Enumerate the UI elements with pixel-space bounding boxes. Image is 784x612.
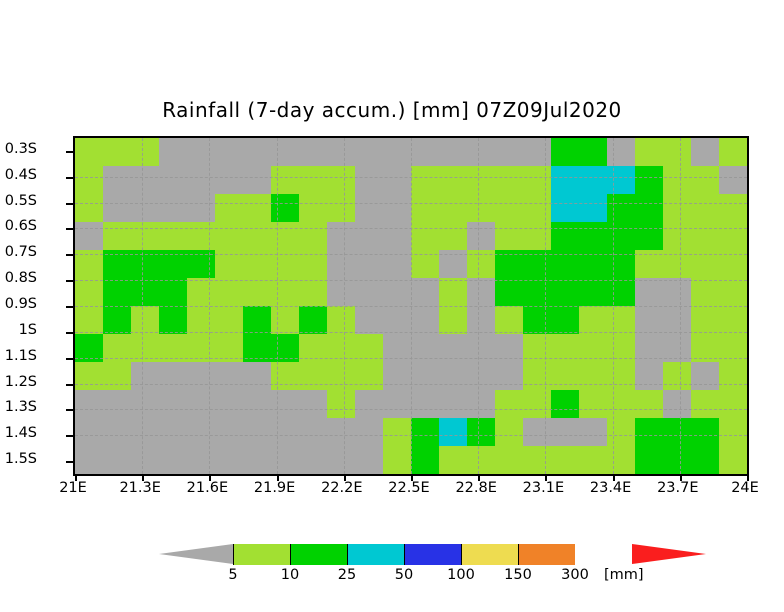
heatmap-cell — [131, 222, 159, 250]
heatmap-cell — [299, 418, 327, 446]
heatmap-cell — [103, 334, 131, 362]
heatmap-cell — [299, 446, 327, 474]
heatmap-cell — [607, 194, 635, 222]
heatmap-cell — [579, 250, 607, 278]
heatmap-cell — [299, 390, 327, 418]
heatmap-cell — [243, 138, 271, 166]
y-axis-tick — [66, 384, 73, 386]
heatmap-cell — [719, 334, 747, 362]
heatmap-cell — [383, 334, 411, 362]
heatmap-cell — [467, 390, 495, 418]
heatmap-cell — [691, 334, 719, 362]
heatmap-cell — [691, 446, 719, 474]
heatmap-cell — [663, 194, 691, 222]
heatmap-cell — [159, 278, 187, 306]
heatmap-cell — [383, 194, 411, 222]
colorbar-low-arrow — [159, 544, 233, 564]
heatmap-cell — [327, 278, 355, 306]
heatmap-cell — [159, 222, 187, 250]
heatmap-cell — [187, 362, 215, 390]
heatmap-cell — [383, 138, 411, 166]
heatmap-cell — [299, 222, 327, 250]
colorbar-segment — [290, 544, 347, 565]
heatmap-cell — [635, 390, 663, 418]
heatmap-cell — [355, 138, 383, 166]
heatmap-cell — [131, 334, 159, 362]
heatmap-cell — [215, 138, 243, 166]
heatmap-cell — [495, 194, 523, 222]
y-axis-tick-label: 0.8S — [5, 270, 37, 286]
y-axis-tick — [66, 409, 73, 411]
heatmap-cell — [383, 278, 411, 306]
heatmap-cell — [75, 418, 103, 446]
heatmap-cell — [523, 194, 551, 222]
heatmap-cell — [523, 306, 551, 334]
heatmap-cell — [159, 418, 187, 446]
heatmap-cell — [495, 166, 523, 194]
y-axis-tick-label: 1.2S — [5, 374, 37, 390]
heatmap-cell — [103, 446, 131, 474]
heatmap-cell — [691, 166, 719, 194]
heatmap-cell — [187, 222, 215, 250]
heatmap-cell — [439, 418, 467, 446]
heatmap-cell — [271, 334, 299, 362]
heatmap-cell — [243, 418, 271, 446]
colorbar-tick-label: 5 — [228, 567, 237, 583]
heatmap-cell — [299, 362, 327, 390]
heatmap-cell — [495, 334, 523, 362]
heatmap-cell — [467, 362, 495, 390]
heatmap-cell — [159, 390, 187, 418]
colorbar-tick-label: 150 — [504, 567, 532, 583]
colorbar-segment — [461, 544, 518, 565]
heatmap-cell — [579, 166, 607, 194]
colorbar-segment — [404, 544, 461, 565]
heatmap-cell — [187, 390, 215, 418]
colorbar-segment — [233, 544, 290, 565]
heatmap-cell — [551, 390, 579, 418]
heatmap-cell — [607, 390, 635, 418]
heatmap-cell — [215, 390, 243, 418]
heatmap-cell — [551, 278, 579, 306]
heatmap-cell — [495, 278, 523, 306]
heatmap-cell — [243, 250, 271, 278]
heatmap-cell — [271, 194, 299, 222]
x-axis-tick-label: 21E — [59, 480, 87, 496]
heatmap-cell — [243, 222, 271, 250]
heatmap-cell — [411, 446, 439, 474]
heatmap-cell — [299, 306, 327, 334]
heatmap-cell — [495, 390, 523, 418]
heatmap-cell — [383, 446, 411, 474]
y-axis-tick — [66, 435, 73, 437]
heatmap-cell — [271, 362, 299, 390]
colorbar-tick-label: 25 — [338, 567, 356, 583]
chart-title: Rainfall (7-day accum.) [mm] 07Z09Jul202… — [0, 98, 784, 122]
heatmap-cell — [663, 278, 691, 306]
heatmap-cell — [439, 334, 467, 362]
heatmap-cell — [215, 278, 243, 306]
heatmap-cell — [439, 138, 467, 166]
y-axis-tick-label: 1.1S — [5, 348, 37, 364]
heatmap-cell — [551, 194, 579, 222]
heatmap-cell — [523, 166, 551, 194]
heatmap-cell — [579, 418, 607, 446]
heatmap-cell — [607, 138, 635, 166]
heatmap-cell — [607, 334, 635, 362]
heatmap-cell — [495, 222, 523, 250]
heatmap-cell — [579, 306, 607, 334]
heatmap-cell — [383, 362, 411, 390]
heatmap-cell — [691, 138, 719, 166]
heatmap-cell — [607, 166, 635, 194]
x-axis-tick-label: 23.1E — [523, 480, 564, 496]
heatmap-cell — [579, 194, 607, 222]
x-axis-tick-label: 23.7E — [657, 480, 698, 496]
heatmap-cell — [635, 278, 663, 306]
heatmap-cell — [551, 446, 579, 474]
heatmap-cell — [439, 250, 467, 278]
heatmap-cell — [439, 446, 467, 474]
heatmap-cell — [551, 250, 579, 278]
heatmap-cell — [635, 222, 663, 250]
heatmap-cell — [411, 222, 439, 250]
y-axis-tick — [66, 306, 73, 308]
heatmap-cell — [271, 222, 299, 250]
y-axis-tick-label: 0.6S — [5, 218, 37, 234]
colorbar-segments — [233, 544, 575, 565]
colorbar-tick-label: 50 — [395, 567, 413, 583]
heatmap-cell — [327, 334, 355, 362]
x-axis-tick-label: 22.8E — [455, 480, 496, 496]
heatmap-cell — [719, 418, 747, 446]
y-axis-tick-label: 0.7S — [5, 244, 37, 260]
heatmap-cell — [299, 194, 327, 222]
heatmap-cell — [103, 138, 131, 166]
heatmap-cell — [327, 222, 355, 250]
heatmap-cell — [495, 362, 523, 390]
heatmap-cell — [187, 250, 215, 278]
heatmap-cell — [271, 278, 299, 306]
heatmap-cell — [719, 138, 747, 166]
heatmap-cell — [551, 306, 579, 334]
heatmap-cell — [719, 278, 747, 306]
heatmap-cell — [579, 138, 607, 166]
y-axis-tick — [66, 358, 73, 360]
heatmap-cell — [327, 194, 355, 222]
heatmap-cell — [439, 390, 467, 418]
heatmap-cell — [467, 166, 495, 194]
heatmap-cell — [607, 362, 635, 390]
heatmap-cell — [299, 250, 327, 278]
heatmap-cell — [411, 194, 439, 222]
heatmap-cell — [75, 222, 103, 250]
y-axis-tick — [66, 280, 73, 282]
heatmap-cell — [523, 362, 551, 390]
heatmap-cell — [215, 418, 243, 446]
heatmap-cell — [579, 334, 607, 362]
heatmap-cell — [579, 362, 607, 390]
heatmap-cell — [663, 390, 691, 418]
heatmap-cell — [159, 446, 187, 474]
x-axis-tick-label: 21.3E — [119, 480, 160, 496]
y-axis-tick — [66, 228, 73, 230]
heatmap-cell — [467, 194, 495, 222]
heatmap-cell — [439, 222, 467, 250]
heatmap-cell — [355, 194, 383, 222]
heatmap-cell — [439, 362, 467, 390]
heatmap-cell — [159, 194, 187, 222]
heatmap-cell — [383, 166, 411, 194]
colorbar-units-label: [mm] — [604, 567, 644, 583]
heatmap-cell — [411, 306, 439, 334]
heatmap-cell — [271, 138, 299, 166]
heatmap-cell — [495, 138, 523, 166]
heatmap-cell — [327, 446, 355, 474]
heatmap-cell — [635, 250, 663, 278]
heatmap-cell — [411, 390, 439, 418]
heatmap-cell — [355, 250, 383, 278]
heatmap-cell — [495, 418, 523, 446]
x-axis-tick-label: 21.9E — [254, 480, 295, 496]
heatmap-cell — [691, 362, 719, 390]
heatmap-cell — [327, 390, 355, 418]
y-axis-tick-label: 1.5S — [5, 451, 37, 467]
heatmap-cell — [663, 334, 691, 362]
heatmap-cell — [103, 390, 131, 418]
heatmap-cell — [635, 166, 663, 194]
heatmap-cell — [383, 222, 411, 250]
heatmap-cell — [411, 278, 439, 306]
heatmap-cell — [719, 250, 747, 278]
heatmap-cell — [719, 194, 747, 222]
heatmap-cell — [75, 306, 103, 334]
heatmap-cell — [243, 390, 271, 418]
heatmap-cell — [719, 166, 747, 194]
heatmap-cell — [355, 222, 383, 250]
heatmap-cell — [131, 250, 159, 278]
heatmap-cell — [523, 418, 551, 446]
heatmap-cell — [439, 194, 467, 222]
heatmap-cell — [635, 306, 663, 334]
heatmap-cell — [691, 390, 719, 418]
heatmap-cell — [299, 278, 327, 306]
heatmap-cell — [187, 446, 215, 474]
heatmap-cell — [579, 222, 607, 250]
heatmap-cell — [243, 334, 271, 362]
heatmap-cell — [635, 194, 663, 222]
heatmap-cell — [299, 166, 327, 194]
heatmap-cell — [691, 222, 719, 250]
heatmap-cell — [131, 418, 159, 446]
heatmap-cell — [551, 362, 579, 390]
heatmap-cell — [607, 446, 635, 474]
heatmap-cell — [523, 138, 551, 166]
heatmap-cell — [75, 362, 103, 390]
heatmap-cell — [467, 278, 495, 306]
heatmap-cell — [159, 250, 187, 278]
heatmap-cell — [103, 278, 131, 306]
heatmap-cell — [299, 138, 327, 166]
heatmap-cell — [411, 334, 439, 362]
heatmap-cell — [691, 278, 719, 306]
heatmap-cell — [663, 418, 691, 446]
y-axis-tick-label: 0.9S — [5, 296, 37, 312]
heatmap-cell — [523, 334, 551, 362]
heatmap-cell — [467, 446, 495, 474]
heatmap-cell — [355, 418, 383, 446]
x-axis-tick-label: 22.2E — [321, 480, 362, 496]
heatmap-cell — [131, 390, 159, 418]
heatmap-cell — [607, 278, 635, 306]
heatmap-cell — [271, 306, 299, 334]
heatmap-cell — [579, 390, 607, 418]
y-axis-tick-label: 0.3S — [5, 141, 37, 157]
heatmap-cell — [103, 166, 131, 194]
heatmap-cell — [411, 362, 439, 390]
heatmap-cell — [691, 418, 719, 446]
heatmap-cell — [719, 222, 747, 250]
heatmap-cell — [411, 166, 439, 194]
heatmap-cell — [75, 390, 103, 418]
heatmap-cell — [131, 278, 159, 306]
heatmap-cell — [271, 166, 299, 194]
heatmap-cell — [75, 194, 103, 222]
heatmap-cell — [187, 278, 215, 306]
heatmap-cell — [355, 278, 383, 306]
heatmap-cell — [243, 194, 271, 222]
heatmap-cell — [383, 306, 411, 334]
heatmap-cell — [663, 138, 691, 166]
heatmap-cell — [719, 306, 747, 334]
heatmap-cell — [579, 446, 607, 474]
y-axis-tick-label: 1.3S — [5, 399, 37, 415]
heatmap-cell — [607, 250, 635, 278]
heatmap-cell — [215, 362, 243, 390]
y-axis-tick — [66, 177, 73, 179]
heatmap-cell — [663, 166, 691, 194]
heatmap-cell — [327, 362, 355, 390]
heatmap-cell — [327, 138, 355, 166]
y-axis-tick — [66, 254, 73, 256]
heatmap-cell — [495, 306, 523, 334]
heatmap-cell — [159, 334, 187, 362]
rainfall-heatmap-figure: Rainfall (7-day accum.) [mm] 07Z09Jul202… — [0, 0, 784, 612]
heatmap-cell — [467, 418, 495, 446]
heatmap-cell — [579, 278, 607, 306]
heatmap-cell — [691, 194, 719, 222]
heatmap-cell — [327, 306, 355, 334]
x-axis-tick-label: 24E — [731, 480, 759, 496]
heatmap-cell — [467, 306, 495, 334]
heatmap-cell — [103, 222, 131, 250]
y-axis-tick — [66, 203, 73, 205]
heatmap-cell — [299, 334, 327, 362]
x-axis-tick-label: 21.6E — [187, 480, 228, 496]
heatmap-cell — [355, 446, 383, 474]
heatmap-cell — [523, 250, 551, 278]
heatmap-cell — [355, 334, 383, 362]
heatmap-cell — [243, 362, 271, 390]
heatmap-cell — [383, 390, 411, 418]
heatmap-cell — [75, 138, 103, 166]
heatmap-cell — [131, 446, 159, 474]
heatmap-cell — [327, 166, 355, 194]
heatmap-cell — [467, 250, 495, 278]
heatmap-cell — [411, 138, 439, 166]
y-axis-tick — [66, 151, 73, 153]
heatmap-cell — [131, 194, 159, 222]
x-axis-tick-label: 22.5E — [388, 480, 429, 496]
heatmap-cell — [663, 250, 691, 278]
heatmap-cell — [131, 166, 159, 194]
colorbar-segment — [347, 544, 404, 565]
heatmap-cell — [719, 390, 747, 418]
heatmap-cell — [467, 222, 495, 250]
heatmap-cell — [271, 418, 299, 446]
heatmap-grid — [75, 138, 747, 474]
heatmap-cell — [215, 194, 243, 222]
heatmap-cell — [159, 362, 187, 390]
heatmap-cell — [719, 362, 747, 390]
heatmap-cell — [523, 222, 551, 250]
heatmap-cell — [243, 278, 271, 306]
heatmap-cell — [719, 446, 747, 474]
heatmap-cell — [215, 446, 243, 474]
heatmap-cell — [243, 446, 271, 474]
colorbar-tick-label: 100 — [447, 567, 475, 583]
heatmap-cell — [663, 446, 691, 474]
heatmap-cell — [215, 306, 243, 334]
heatmap-cell — [439, 306, 467, 334]
heatmap-cell — [75, 278, 103, 306]
heatmap-cell — [75, 250, 103, 278]
heatmap-cell — [691, 250, 719, 278]
y-axis-tick-label: 1S — [19, 322, 37, 338]
heatmap-cell — [215, 166, 243, 194]
heatmap-cell — [187, 334, 215, 362]
y-axis-tick-label: 1.4S — [5, 425, 37, 441]
colorbar-segment — [518, 544, 575, 565]
heatmap-cell — [159, 138, 187, 166]
heatmap-cell — [467, 138, 495, 166]
heatmap-cell — [187, 138, 215, 166]
heatmap-cell — [523, 278, 551, 306]
heatmap-cell — [663, 222, 691, 250]
heatmap-cell — [215, 250, 243, 278]
x-axis-tick-label: 23.4E — [590, 480, 631, 496]
heatmap-cell — [635, 138, 663, 166]
plot-area — [73, 136, 749, 476]
heatmap-cell — [635, 446, 663, 474]
heatmap-cell — [635, 334, 663, 362]
heatmap-cell — [187, 306, 215, 334]
heatmap-cell — [411, 418, 439, 446]
heatmap-cell — [355, 362, 383, 390]
heatmap-cell — [271, 446, 299, 474]
heatmap-cell — [131, 362, 159, 390]
heatmap-cell — [271, 250, 299, 278]
heatmap-cell — [159, 166, 187, 194]
heatmap-cell — [327, 418, 355, 446]
heatmap-cell — [243, 166, 271, 194]
heatmap-cell — [383, 418, 411, 446]
heatmap-cell — [607, 222, 635, 250]
heatmap-cell — [103, 362, 131, 390]
heatmap-cell — [551, 222, 579, 250]
heatmap-cell — [663, 362, 691, 390]
heatmap-cell — [187, 194, 215, 222]
